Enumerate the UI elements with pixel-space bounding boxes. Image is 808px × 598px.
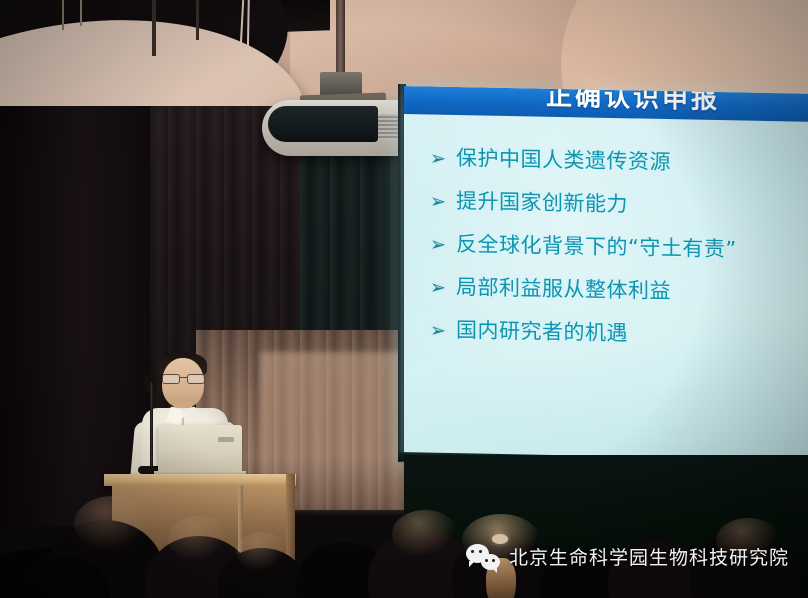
laptop [158, 425, 242, 473]
arrow-bullet-icon: ➢ [430, 149, 456, 168]
slide-bullet-text: 反全球化背景下的“守土有责” [456, 233, 737, 261]
laptop-logo [218, 437, 234, 442]
wechat-bubble-small [481, 554, 500, 570]
projector-mount-pole [336, 0, 345, 78]
watermark: 北京生命科学园生物科技研究院 [466, 543, 789, 570]
microphone-stand [150, 382, 153, 474]
arrow-bullet-icon: ➢ [430, 236, 456, 255]
slide-bullet-4: ➢ 局部利益服从整体利益 [430, 276, 808, 306]
slide-bullet-text: 提升国家创新能力 [456, 190, 628, 216]
speaker-glasses [162, 374, 204, 382]
slide-bullet-2: ➢ 提升国家创新能力 [430, 190, 808, 220]
projector-lens-band [268, 106, 378, 142]
glasses-lens-right [187, 374, 205, 384]
audience-hair-highlight [236, 532, 288, 572]
projection-screen: 正确认识申报 ➢ 保护中国人类遗传资源 ➢ 提升国家创新能力 ➢ 反全球化背景下… [404, 86, 808, 466]
arrow-bullet-icon: ➢ [430, 193, 456, 212]
slide-bullet-5: ➢ 国内研究者的机遇 [430, 319, 808, 349]
projector [262, 100, 410, 156]
slide-bullet-text: 保护中国人类遗传资源 [456, 147, 671, 174]
ceiling-cable [80, 0, 82, 26]
slide-bullet-text: 国内研究者的机遇 [456, 319, 628, 345]
presentation-photo: 正确认识申报 ➢ 保护中国人类遗传资源 ➢ 提升国家创新能力 ➢ 反全球化背景下… [0, 0, 808, 598]
ceiling-rod [152, 0, 156, 56]
ceiling-rod [196, 0, 199, 40]
ceiling-cable [62, 0, 64, 30]
watermark-text: 北京生命科学园生物科技研究院 [509, 543, 789, 570]
audience-hair-highlight [392, 510, 458, 558]
arrow-bullet-icon: ➢ [430, 279, 456, 298]
slide-bullet-3: ➢ 反全球化背景下的“守土有责” [430, 233, 808, 263]
audience-hair-highlight [168, 516, 230, 562]
audience-hair-highlight [74, 496, 152, 552]
audience [0, 470, 808, 598]
glasses-bridge [179, 377, 187, 378]
slide-bullet-1: ➢ 保护中国人类遗传资源 [430, 146, 808, 176]
slide-bullet-text: 局部利益服从整体利益 [456, 276, 671, 303]
glasses-lens-left [162, 374, 180, 384]
wechat-icon [466, 544, 500, 570]
slide-body: ➢ 保护中国人类遗传资源 ➢ 提升国家创新能力 ➢ 反全球化背景下的“守土有责”… [404, 120, 808, 448]
arrow-bullet-icon: ➢ [430, 322, 456, 341]
